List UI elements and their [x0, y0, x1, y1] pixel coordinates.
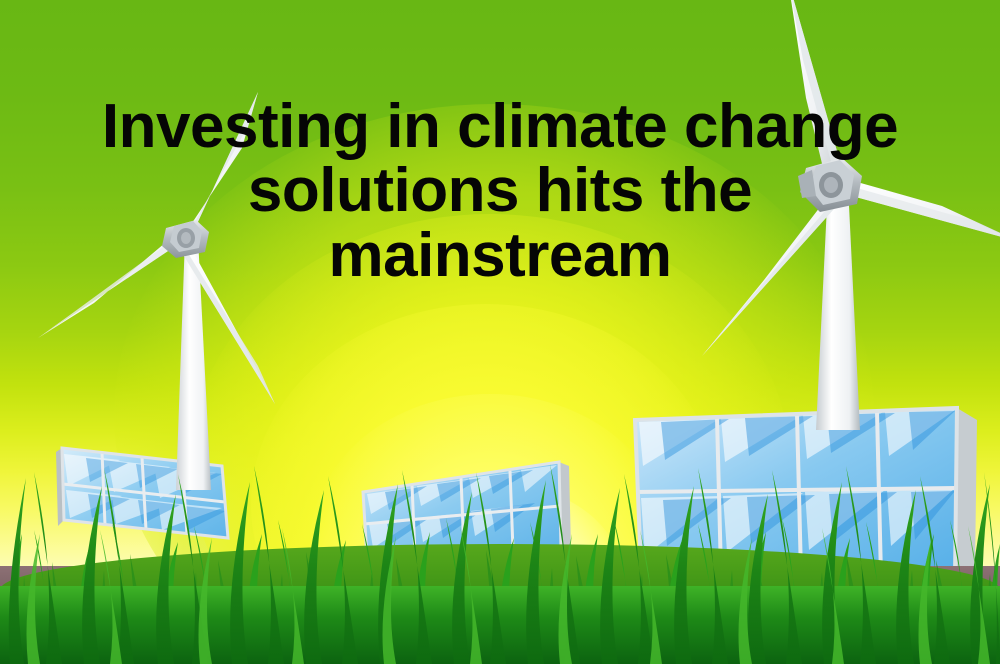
turbine-tower-right [816, 185, 860, 430]
turbine-blade-left-left [38, 232, 180, 338]
wind-turbine-right [660, 0, 1000, 460]
grass-field-front [0, 464, 1000, 664]
climate-banner-image: Investing in climate change solutions hi… [0, 0, 1000, 664]
wind-turbine-left [0, 60, 410, 530]
turbine-blade-up-left [186, 92, 258, 232]
